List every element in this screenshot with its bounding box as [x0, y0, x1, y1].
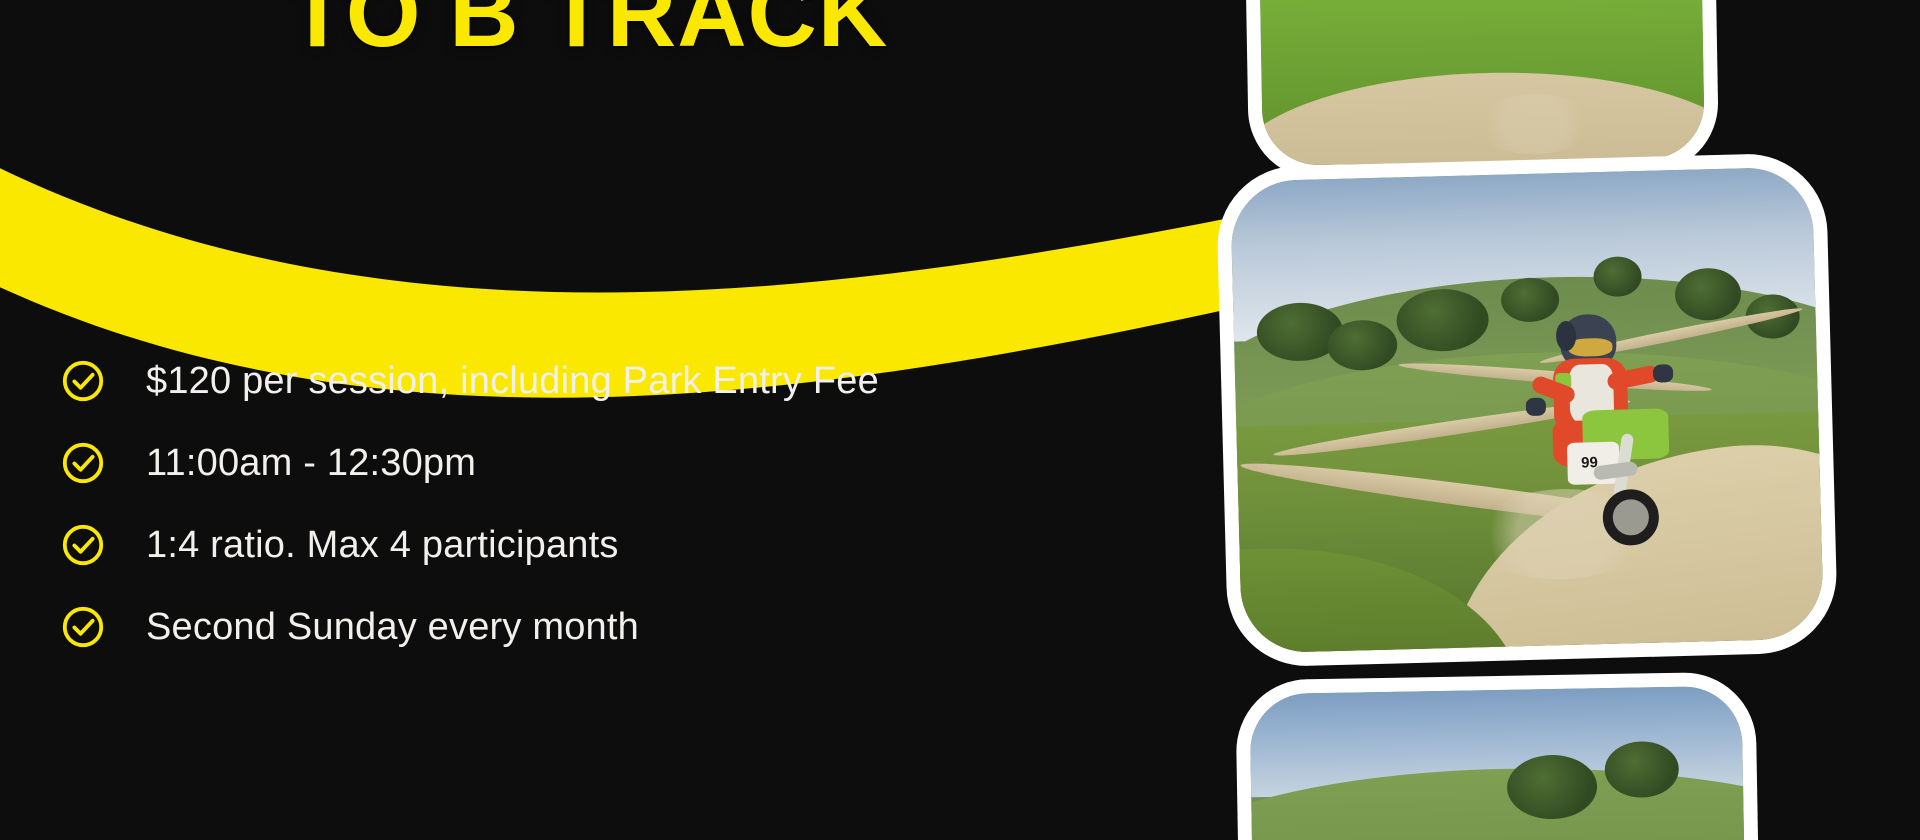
photo-hillside-rider: 99 — [1216, 152, 1839, 668]
poster-canvas: TO B TRACK $120 per session, including P… — [0, 0, 1920, 840]
photo-rocky-trail-rider — [1243, 0, 1719, 180]
photo-grass-track — [1235, 671, 1761, 840]
rider-figure: 99 — [1501, 311, 1707, 546]
photo-collage: 99 — [0, 0, 1920, 840]
